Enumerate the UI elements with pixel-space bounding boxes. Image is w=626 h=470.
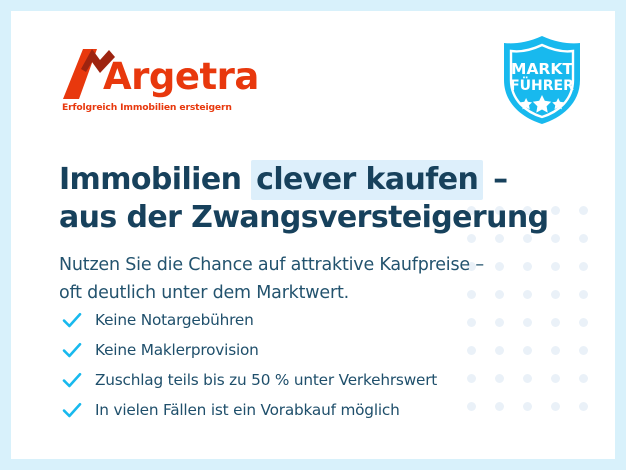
decorative-dot — [579, 234, 588, 243]
decorative-dot — [579, 262, 588, 271]
list-item-label: Zuschlag teils bis zu 50 % unter Verkehr… — [95, 371, 437, 389]
decorative-dot — [467, 402, 476, 411]
decorative-dot — [467, 374, 476, 383]
decorative-dot — [551, 402, 560, 411]
decorative-dot — [579, 346, 588, 355]
headline-text-before: Immobilien — [59, 162, 251, 197]
decorative-dot — [551, 262, 560, 271]
decorative-dot — [551, 206, 560, 215]
headline-text-after: – — [483, 162, 507, 197]
decorative-dot — [579, 374, 588, 383]
subheading-line-1: Nutzen Sie die Chance auf attraktive Kau… — [59, 251, 484, 279]
decorative-dot — [523, 346, 532, 355]
decorative-dot — [495, 346, 504, 355]
decorative-dot — [495, 402, 504, 411]
logo-wordmark: Argetra — [103, 58, 259, 95]
list-item: Zuschlag teils bis zu 50 % unter Verkehr… — [61, 365, 437, 395]
decorative-dot — [551, 374, 560, 383]
dot-grid-decoration — [467, 206, 607, 430]
list-item-label: Keine Maklerprovision — [95, 341, 259, 359]
logo-row: Argetra — [59, 43, 259, 99]
check-icon — [61, 399, 83, 421]
decorative-dot — [495, 318, 504, 327]
logo-tagline: Erfolgreich Immobilien ersteigern — [62, 102, 259, 113]
list-item-label: Keine Notargebühren — [95, 311, 254, 329]
decorative-dot — [467, 346, 476, 355]
decorative-dot — [467, 318, 476, 327]
decorative-dot — [495, 374, 504, 383]
check-icon — [61, 369, 83, 391]
decorative-dot — [523, 262, 532, 271]
list-item-label: In vielen Fällen ist ein Vorabkauf mögli… — [95, 401, 400, 419]
decorative-dot — [551, 318, 560, 327]
decorative-dot — [495, 290, 504, 299]
decorative-dot — [551, 290, 560, 299]
decorative-dot — [579, 290, 588, 299]
subheading: Nutzen Sie die Chance auf attraktive Kau… — [59, 251, 484, 308]
list-item: Keine Notargebühren — [61, 305, 437, 335]
benefits-checklist: Keine NotargebührenKeine Maklerprovision… — [61, 305, 437, 425]
decorative-dot — [523, 290, 532, 299]
shield-icon: MARKT FÜHRER — [499, 34, 585, 126]
decorative-dot — [523, 374, 532, 383]
decorative-dot — [579, 206, 588, 215]
decorative-dot — [551, 234, 560, 243]
decorative-dot — [579, 318, 588, 327]
decorative-dot — [579, 402, 588, 411]
subheading-line-2: oft deutlich unter dem Marktwert. — [59, 279, 484, 307]
decorative-dot — [551, 346, 560, 355]
badge-line-1: MARKT — [511, 60, 573, 78]
headline-line-1: Immobilien clever kaufen – — [59, 161, 549, 199]
badge-line-2: FÜHRER — [510, 76, 574, 94]
markt-fuehrer-badge: MARKT FÜHRER — [499, 34, 585, 126]
banner-canvas: Argetra Erfolgreich Immobilien ersteiger… — [11, 11, 615, 459]
list-item: In vielen Fällen ist ein Vorabkauf mögli… — [61, 395, 437, 425]
decorative-dot — [523, 318, 532, 327]
decorative-dot — [523, 402, 532, 411]
argetra-logo[interactable]: Argetra Erfolgreich Immobilien ersteiger… — [59, 43, 259, 113]
check-icon — [61, 309, 83, 331]
check-icon — [61, 339, 83, 361]
page-title: Immobilien clever kaufen – aus der Zwang… — [59, 161, 549, 237]
headline-highlight: clever kaufen — [251, 160, 483, 200]
decorative-dot — [495, 262, 504, 271]
list-item: Keine Maklerprovision — [61, 335, 437, 365]
promo-banner: Argetra Erfolgreich Immobilien ersteiger… — [0, 0, 626, 470]
headline-line-2: aus der Zwangsversteigerung — [59, 199, 549, 237]
